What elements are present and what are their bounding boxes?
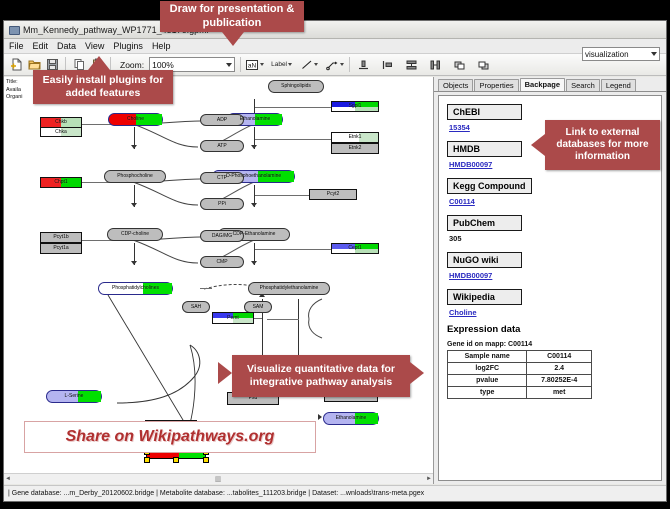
- callout-arrow-draw: [222, 32, 244, 46]
- node-label: Sphingolipids: [281, 84, 311, 89]
- zoom-label: Zoom:: [120, 60, 144, 70]
- node-label: DAG/MG: [212, 234, 232, 239]
- callout-plugins: Easily install plugins for added feature…: [33, 70, 173, 104]
- gene-node[interactable]: Etnk1: [331, 132, 379, 143]
- callout-text: Link to external databases for more info…: [550, 127, 655, 163]
- table-cell-value: met: [527, 387, 592, 399]
- scroll-grip[interactable]: ▥: [215, 475, 223, 483]
- node-label: CDP-Ethanolamine: [233, 232, 276, 237]
- node-label: SAH: [191, 305, 201, 310]
- expression-table: Sample name C00114 log2FC 2.4 pvalue 7.8…: [447, 350, 592, 399]
- pathway-info-labels: Title: Availa Organi: [6, 79, 32, 102]
- gene-node[interactable]: Chka: [40, 127, 82, 137]
- visualization-value: visualization: [585, 50, 629, 59]
- metabolite-node[interactable]: ATP: [200, 140, 244, 152]
- metabolite-node[interactable]: Phosphatidylcholines: [98, 282, 173, 295]
- chevron-down-icon: [651, 52, 657, 56]
- callout-arrow-visualize-right: [410, 362, 424, 384]
- node-label: Chka: [55, 130, 67, 135]
- tab-backpage[interactable]: Backpage: [520, 78, 565, 91]
- title-bar: Mm_Kennedy_pathway_WP1771_45176.gpml: [4, 21, 666, 39]
- node-label: Phosphatidylcholines: [112, 286, 159, 291]
- table-row: pvalue 7.80252E-4: [448, 375, 592, 387]
- node-label: Ethanolamine: [336, 416, 367, 421]
- callout-arrow-visualize-left: [218, 362, 232, 384]
- catalysis-line: [255, 195, 309, 196]
- tab-legend[interactable]: Legend: [601, 79, 636, 91]
- menu-item-plugins[interactable]: Plugins: [113, 41, 143, 51]
- tab-properties[interactable]: Properties: [474, 79, 518, 91]
- chevron-down-icon: [226, 63, 232, 67]
- arrow-head: [251, 261, 257, 265]
- expression-half-right: [359, 133, 378, 142]
- gene-node[interactable]: Pemt: [212, 312, 254, 324]
- callout-visualize: Visualize quantitative data for integrat…: [232, 355, 410, 397]
- table-cell-key: Sample name: [448, 351, 527, 363]
- table-cell-key: type: [448, 387, 527, 399]
- menu-item-file[interactable]: File: [9, 41, 24, 51]
- gene-node[interactable]: Pcyt1a: [40, 243, 82, 254]
- arrow-head: [131, 261, 137, 265]
- gene-node[interactable]: Chpt1: [40, 177, 82, 188]
- selection-handle[interactable]: [173, 457, 179, 463]
- label-tool[interactable]: Label: [271, 61, 292, 68]
- expression-data-heading: Expression data: [447, 324, 653, 335]
- gene-node[interactable]: Pcyt2: [309, 189, 357, 200]
- catalysis-line: [255, 139, 331, 140]
- node-label: Pcyt1a: [53, 246, 68, 251]
- menu-item-view[interactable]: View: [85, 41, 104, 51]
- callout-text: Share on Wikipathways.org: [66, 428, 275, 446]
- send-to-back-icon[interactable]: [475, 57, 491, 73]
- arrow-head: [251, 203, 257, 207]
- table-cell-value: C00114: [527, 351, 592, 363]
- availability-label: Availa: [6, 87, 32, 95]
- node-label: Sgpl1: [349, 104, 362, 109]
- metabolite-node[interactable]: L-Serine: [46, 390, 102, 403]
- callout-links: Link to external databases for more info…: [545, 120, 660, 170]
- node-label: Chpt1: [54, 180, 67, 185]
- scroll-left-icon[interactable]: ◄: [5, 476, 11, 482]
- organism-label: Organi: [6, 94, 32, 102]
- status-bar: | Gene database: ...m_Derby_20120602.bri…: [4, 485, 666, 501]
- node-label: CTP: [217, 176, 227, 181]
- node-label: ADP: [217, 118, 227, 123]
- metabolite-node[interactable]: Ethanolamine: [323, 412, 379, 425]
- gene-node[interactable]: Pcyt1b: [40, 232, 82, 243]
- tab-objects[interactable]: Objects: [438, 79, 473, 91]
- table-row: Sample name C00114: [448, 351, 592, 363]
- gene-id-text: Gene id on mapp: C00114: [447, 341, 653, 348]
- bring-to-front-icon[interactable]: [451, 57, 467, 73]
- node-label: Cept1: [348, 246, 361, 251]
- screenshot-root: Mm_Kennedy_pathway_WP1771_45176.gpml Fil…: [0, 0, 670, 509]
- db-header-hmdb: HMDB: [447, 141, 522, 157]
- metabolite-node[interactable]: PPi: [200, 198, 244, 210]
- line-tool[interactable]: [301, 59, 318, 71]
- catalysis-line: [255, 249, 331, 250]
- callout-text: Easily install plugins for added feature…: [39, 74, 167, 99]
- selection-handle[interactable]: [144, 457, 150, 463]
- arrow-head: [318, 414, 322, 420]
- toolbar-separator: [240, 57, 241, 72]
- callout-text: Visualize quantitative data for integrat…: [237, 363, 405, 388]
- callout-text: Draw for presentation & publication: [166, 3, 298, 29]
- table-cell-key: pvalue: [448, 375, 527, 387]
- chevron-down-icon: [260, 63, 264, 66]
- scroll-right-icon[interactable]: ►: [426, 476, 432, 482]
- node-label: Pcyt1b: [53, 235, 68, 240]
- catalysis-line: [200, 288, 212, 289]
- metabolite-node[interactable]: Phosphatidylethanolamine: [248, 282, 330, 295]
- db-header-chebi: ChEBI: [447, 104, 522, 120]
- catalysis-line: [255, 107, 331, 108]
- gene-node[interactable]: Sgpl1: [331, 101, 379, 112]
- interaction-tool[interactable]: [326, 59, 344, 71]
- metabolite-node[interactable]: Choline: [108, 113, 163, 126]
- metabolite-node[interactable]: Sphingolipids: [268, 80, 324, 93]
- node-label: Pemt: [227, 316, 239, 321]
- callout-arrow-links: [531, 134, 545, 156]
- node-label: Choline: [127, 117, 144, 122]
- chevron-down-icon: [314, 63, 318, 66]
- node-label: Etnk1: [349, 135, 362, 140]
- node-label: L-Serine: [65, 394, 84, 399]
- tab-search[interactable]: Search: [566, 79, 600, 91]
- db-value-pubchem: 305: [449, 234, 653, 243]
- node-label: Phosphatidylethanolamine: [260, 286, 319, 291]
- common-width-icon[interactable]: [427, 57, 443, 73]
- metabolite-node[interactable]: SAH: [182, 301, 210, 313]
- gene-node[interactable]: Cept1: [331, 243, 379, 254]
- node-label: Phosphocholine: [117, 174, 153, 179]
- zoom-value: 100%: [152, 60, 174, 70]
- selection-handle[interactable]: [203, 457, 209, 463]
- common-height-icon[interactable]: [403, 57, 419, 73]
- toolbar-separator: [349, 57, 350, 72]
- gene-node[interactable]: Etnk2: [331, 143, 379, 154]
- node-label: PPi: [218, 202, 226, 207]
- visualization-combo[interactable]: visualization: [582, 47, 660, 61]
- metabolite-node[interactable]: ADP: [200, 114, 244, 126]
- datanode-tool[interactable]: aN: [246, 59, 264, 71]
- metabolite-node[interactable]: CDP-choline: [107, 228, 163, 241]
- arrow-head: [131, 145, 137, 149]
- callout-arrow-plugins: [88, 56, 110, 70]
- db-link-wikipedia[interactable]: Choline: [449, 308, 653, 317]
- callout-share: Share on Wikipathways.org: [24, 421, 316, 453]
- node-label: Ethanolamine: [240, 117, 271, 122]
- metabolite-node[interactable]: CMP: [200, 256, 244, 268]
- table-row: type met: [448, 387, 592, 399]
- db-link-kegg[interactable]: C00114: [449, 197, 653, 206]
- node-label: SAM: [253, 305, 264, 310]
- align-top-icon[interactable]: [355, 57, 371, 73]
- status-text: | Gene database: ...m_Derby_20120602.bri…: [8, 490, 424, 497]
- node-label: Chkb: [55, 120, 67, 125]
- label-tool-text: Label: [271, 61, 287, 68]
- menu-item-edit[interactable]: Edit: [33, 41, 49, 51]
- table-cell-key: log2FC: [448, 363, 527, 375]
- db-header-wikipedia: Wikipedia: [447, 289, 522, 305]
- chevron-down-icon: [340, 63, 344, 66]
- node-label: Etnk2: [349, 146, 362, 151]
- db-header-pubchem: PubChem: [447, 215, 522, 231]
- app-icon: [8, 24, 19, 35]
- metabolite-node[interactable]: Phosphocholine: [104, 170, 166, 183]
- table-cell-value: 7.80252E-4: [527, 375, 592, 387]
- menu-bar: File Edit Data View Plugins Help: [4, 39, 666, 54]
- menu-item-help[interactable]: Help: [152, 41, 171, 51]
- panel-tabs: Objects Properties Backpage Search Legen…: [434, 77, 666, 92]
- db-header-kegg: Kegg Compound: [447, 178, 532, 194]
- db-header-nugo: NuGO wiki: [447, 252, 522, 268]
- table-cell-value: 2.4: [527, 363, 592, 375]
- callout-draw: Draw for presentation & publication: [160, 1, 304, 32]
- title-label: Title:: [6, 79, 32, 87]
- table-row: log2FC 2.4: [448, 363, 592, 375]
- gene-node[interactable]: Chkb: [40, 117, 82, 127]
- node-label: O-Phosphoethanolamine: [226, 174, 281, 179]
- new-icon[interactable]: [8, 57, 24, 73]
- node-label: CDP-choline: [121, 232, 149, 237]
- menu-item-data[interactable]: Data: [57, 41, 76, 51]
- db-link-nugo[interactable]: HMDB00097: [449, 271, 653, 280]
- horizontal-scrollbar[interactable]: ◄ ▥ ►: [4, 473, 433, 484]
- catalysis-line: [267, 319, 299, 320]
- align-left-icon[interactable]: [379, 57, 395, 73]
- chevron-down-icon: [288, 63, 292, 66]
- svg-text:aN: aN: [248, 62, 257, 69]
- node-label: ATP: [217, 144, 226, 149]
- node-label: Pcyt2: [327, 192, 340, 197]
- arrow-head: [131, 203, 137, 207]
- arrow-head: [251, 145, 257, 149]
- node-label: CMP: [216, 260, 227, 265]
